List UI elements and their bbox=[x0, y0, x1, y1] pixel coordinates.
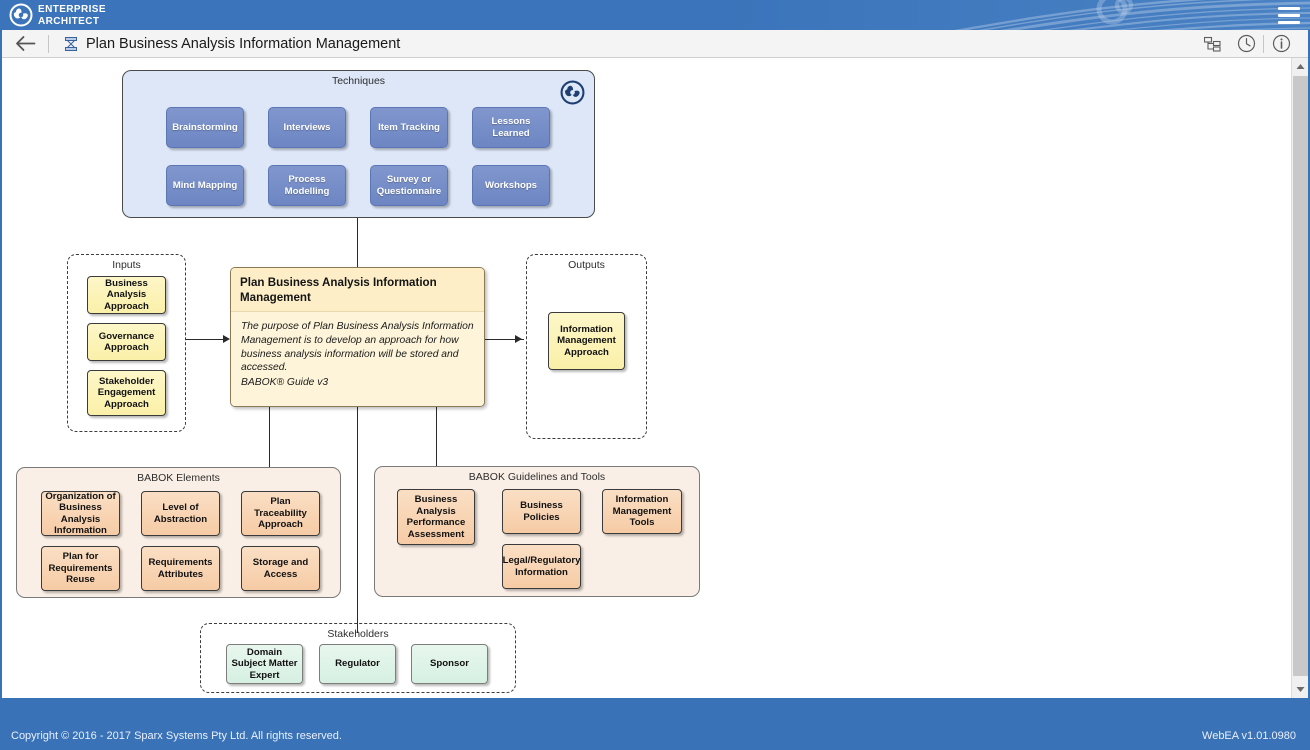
brand-header: ENTERPRISE ARCHITECT bbox=[0, 0, 1310, 30]
node-technique[interactable]: Item Tracking bbox=[370, 107, 448, 148]
activity-box[interactable]: Plan Business Analysis Information Manag… bbox=[230, 267, 485, 407]
toolbar: Plan Business Analysis Information Manag… bbox=[2, 30, 1308, 58]
node-babok-guideline[interactable]: Information Management Tools bbox=[602, 489, 682, 534]
group-title-techniques: Techniques bbox=[123, 75, 594, 87]
node-babok-element[interactable]: Requirements Attributes bbox=[141, 546, 220, 591]
back-button[interactable] bbox=[2, 30, 48, 57]
group-babok-guidelines[interactable]: BABOK Guidelines and Tools Business Anal… bbox=[374, 466, 700, 597]
sparx-logo-icon bbox=[560, 80, 585, 105]
node-babok-guideline[interactable]: Business Policies bbox=[502, 489, 581, 534]
group-techniques[interactable]: Techniques Brainstorming Interviews Item… bbox=[122, 70, 595, 218]
node-babok-guideline[interactable]: Legal/Regulatory Information bbox=[502, 544, 581, 589]
node-input[interactable]: Business Analysis Approach bbox=[87, 276, 166, 314]
node-technique[interactable]: Process Modelling bbox=[268, 165, 346, 206]
node-babok-guideline[interactable]: Business Analysis Performance Assessment bbox=[397, 489, 475, 545]
scroll-up-icon[interactable] bbox=[1292, 58, 1308, 75]
group-title-babok-elements: BABOK Elements bbox=[17, 472, 340, 484]
footer-bar: Copyright © 2016 - 2017 Sparx Systems Pt… bbox=[0, 722, 1310, 750]
node-technique[interactable]: Mind Mapping bbox=[166, 165, 244, 206]
node-technique[interactable]: Brainstorming bbox=[166, 107, 244, 148]
hierarchy-icon[interactable] bbox=[1195, 30, 1229, 57]
toolbar-divider bbox=[48, 35, 49, 53]
diagram-canvas[interactable]: Techniques Brainstorming Interviews Item… bbox=[2, 58, 1270, 698]
group-outputs[interactable]: Outputs Information Management Approach bbox=[526, 254, 647, 439]
group-babok-elements[interactable]: BABOK Elements Organization of Business … bbox=[16, 467, 341, 598]
arrowhead-inputs bbox=[223, 335, 230, 343]
copyright-text: Copyright © 2016 - 2017 Sparx Systems Pt… bbox=[11, 730, 342, 742]
diagram-icon bbox=[63, 36, 79, 52]
node-technique[interactable]: Workshops bbox=[472, 165, 550, 206]
toolbar-actions bbox=[1195, 30, 1308, 57]
node-babok-element[interactable]: Plan Traceability Approach bbox=[241, 491, 320, 536]
node-input[interactable]: Stakeholder Engagement Approach bbox=[87, 370, 166, 416]
diagram-canvas-container: Techniques Brainstorming Interviews Item… bbox=[2, 58, 1308, 698]
group-stakeholders[interactable]: Stakeholders Domain Subject Matter Exper… bbox=[200, 623, 516, 693]
brand-line-2: ARCHITECT bbox=[38, 16, 106, 28]
node-babok-element[interactable]: Level of Abstraction bbox=[141, 491, 220, 536]
connector-activity-babok-guidelines bbox=[436, 407, 437, 466]
node-output[interactable]: Information Management Approach bbox=[548, 312, 625, 370]
connector-activity-babok-elements bbox=[269, 407, 270, 467]
group-title-stakeholders: Stakeholders bbox=[201, 628, 515, 640]
node-babok-element[interactable]: Organization of Business Analysis Inform… bbox=[41, 491, 120, 536]
activity-purpose: The purpose of Plan Business Analysis In… bbox=[241, 321, 474, 373]
connector-activity-stakeholders bbox=[357, 407, 358, 633]
node-babok-element[interactable]: Storage and Access bbox=[241, 546, 320, 591]
clock-icon[interactable] bbox=[1229, 30, 1263, 57]
scrollbar-thumb[interactable] bbox=[1293, 76, 1308, 676]
node-technique[interactable]: Lessons Learned bbox=[472, 107, 550, 148]
node-technique[interactable]: Interviews bbox=[268, 107, 346, 148]
scroll-down-icon[interactable] bbox=[1292, 681, 1308, 698]
version-text: WebEA v1.01.0980 bbox=[1202, 730, 1296, 742]
activity-title: Plan Business Analysis Information Manag… bbox=[231, 268, 484, 312]
wave-decoration bbox=[790, 0, 1310, 30]
group-title-outputs: Outputs bbox=[527, 259, 646, 271]
node-stakeholder[interactable]: Sponsor bbox=[411, 644, 488, 684]
back-arrow-icon bbox=[15, 35, 36, 52]
webea-application: ENTERPRISE ARCHITECT Plan Business Analy… bbox=[0, 0, 1310, 750]
connector-inputs-activity bbox=[185, 339, 225, 340]
info-icon[interactable] bbox=[1264, 30, 1298, 57]
group-title-babok-guidelines: BABOK Guidelines and Tools bbox=[375, 471, 699, 483]
vertical-scrollbar[interactable] bbox=[1291, 58, 1308, 698]
node-stakeholder[interactable]: Regulator bbox=[319, 644, 396, 684]
group-title-inputs: Inputs bbox=[68, 259, 185, 271]
activity-source: BABOK® Guide v3 bbox=[241, 376, 474, 390]
hamburger-menu-icon[interactable] bbox=[1278, 7, 1300, 24]
activity-description: The purpose of Plan Business Analysis In… bbox=[231, 312, 484, 407]
page-title: Plan Business Analysis Information Manag… bbox=[86, 36, 400, 52]
node-technique[interactable]: Survey or Questionnaire bbox=[370, 165, 448, 206]
brand-line-1: ENTERPRISE bbox=[38, 2, 106, 16]
node-input[interactable]: Governance Approach bbox=[87, 323, 166, 361]
group-inputs[interactable]: Inputs Business Analysis Approach Govern… bbox=[67, 254, 186, 432]
node-babok-element[interactable]: Plan for Requirements Reuse bbox=[41, 546, 120, 591]
node-stakeholder[interactable]: Domain Subject Matter Expert bbox=[226, 644, 303, 684]
arrowhead-outputs bbox=[515, 335, 522, 343]
sparx-logo-icon bbox=[9, 3, 33, 27]
brand-title: ENTERPRISE ARCHITECT bbox=[38, 2, 106, 28]
